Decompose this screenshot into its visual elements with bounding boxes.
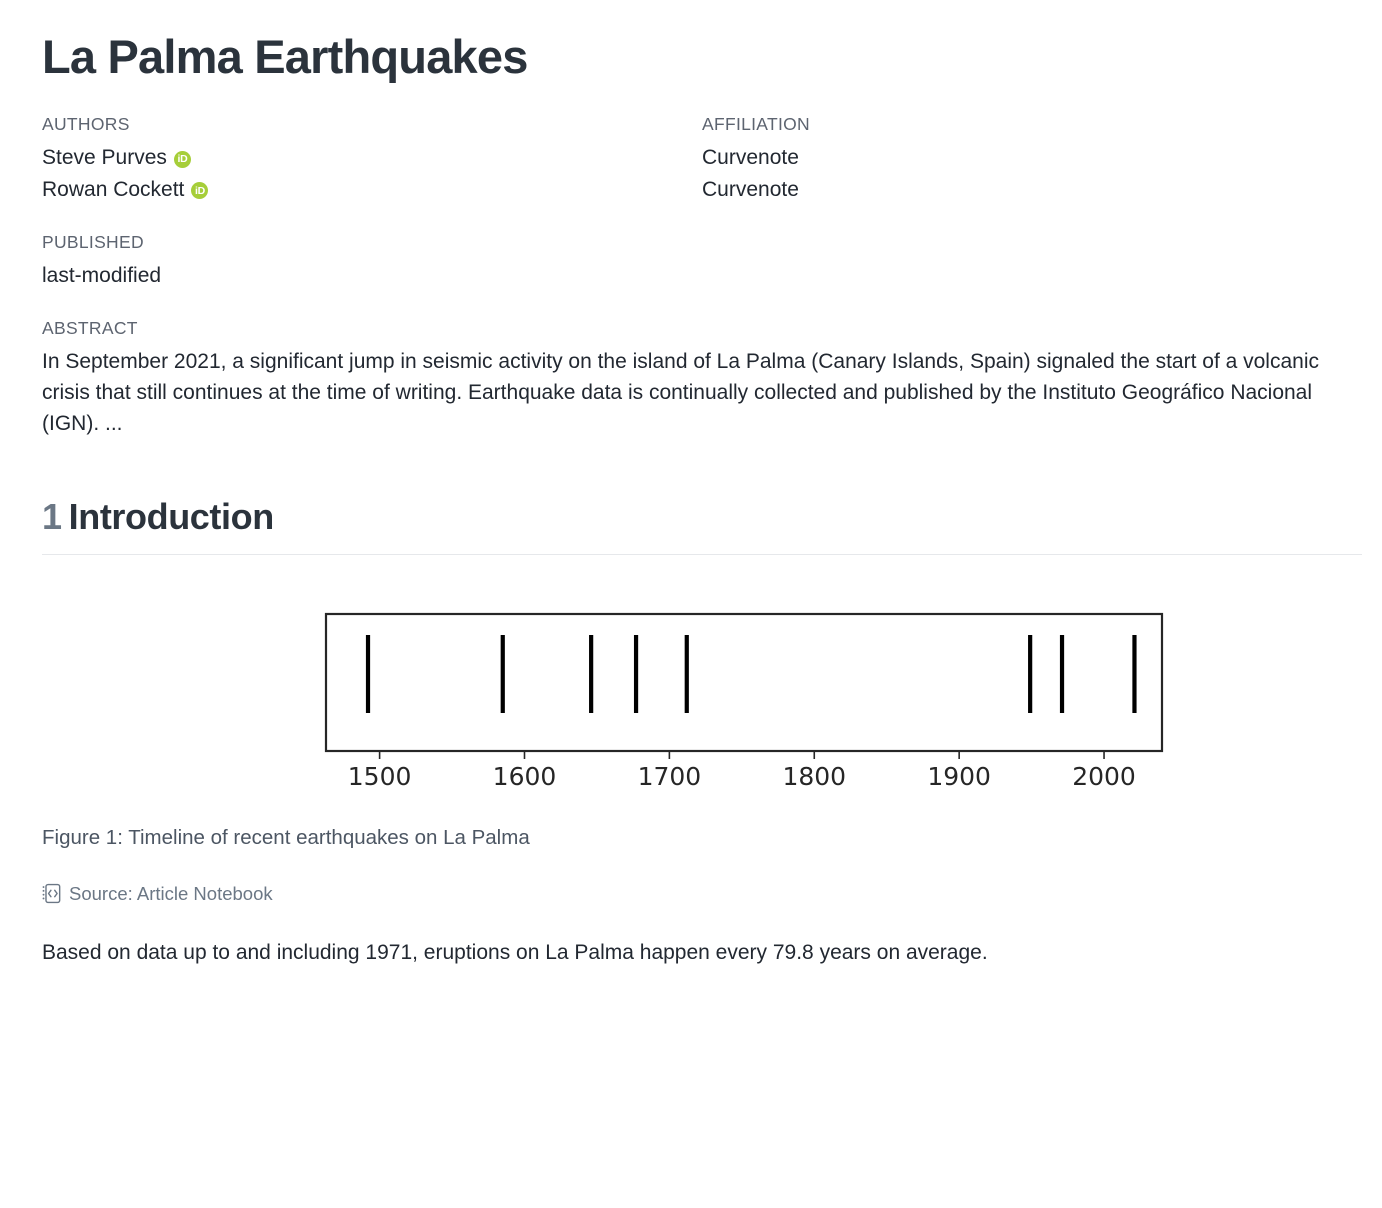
svg-text:1800: 1800 [782, 762, 846, 791]
author-name: Rowan Cockett [42, 174, 184, 206]
published-label: PUBLISHED [42, 232, 1360, 253]
section-divider [42, 554, 1362, 555]
page-title: La Palma Earthquakes [42, 0, 1360, 84]
affiliation-column: AFFILIATION Curvenote Curvenote [702, 114, 1360, 206]
orcid-icon[interactable]: iD [191, 182, 208, 199]
author-entry: Rowan Cockett iD [42, 174, 702, 206]
svg-text:1600: 1600 [493, 762, 557, 791]
figure-source[interactable]: Source: Article Notebook [42, 883, 1360, 905]
abstract-label: ABSTRACT [42, 318, 1360, 339]
orcid-icon[interactable]: iD [174, 151, 191, 168]
author-entry: Steve Purves iD [42, 142, 702, 174]
figure-timeline: 150016001700180019002000 Figure 1: Timel… [42, 597, 1360, 905]
affiliation-value: Curvenote [702, 174, 1360, 206]
authors-label: AUTHORS [42, 114, 702, 135]
svg-text:2000: 2000 [1072, 762, 1136, 791]
timeline-chart-svg: 150016001700180019002000 [42, 597, 1382, 797]
svg-text:1500: 1500 [348, 762, 412, 791]
figure-source-label: Source: Article Notebook [69, 883, 273, 905]
body-paragraph: Based on data up to and including 1971, … [42, 937, 1312, 969]
notebook-code-icon [42, 883, 61, 904]
abstract-block: ABSTRACT In September 2021, a significan… [42, 318, 1360, 439]
affiliation-value: Curvenote [702, 142, 1360, 174]
figure-caption: Figure 1: Timeline of recent earthquakes… [42, 824, 1360, 853]
svg-text:1900: 1900 [927, 762, 991, 791]
authors-column: AUTHORS Steve Purves iD Rowan Cockett iD [42, 114, 702, 206]
article-page: La Palma Earthquakes AUTHORS Steve Purve… [0, 0, 1382, 1208]
published-value: last-modified [42, 260, 1360, 292]
section-number: 1 [42, 496, 62, 537]
svg-text:1700: 1700 [638, 762, 702, 791]
timeline-plot: 150016001700180019002000 [42, 597, 1360, 802]
author-name: Steve Purves [42, 142, 167, 174]
abstract-text: In September 2021, a significant jump in… [42, 346, 1360, 439]
affiliation-label: AFFILIATION [702, 114, 1360, 135]
frontmatter: AUTHORS Steve Purves iD Rowan Cockett iD… [42, 114, 1360, 206]
plot-frame [326, 614, 1162, 751]
x-axis-tick-labels: 150016001700180019002000 [348, 762, 1136, 791]
section-title: Introduction [69, 496, 274, 537]
published-block: PUBLISHED last-modified [42, 232, 1360, 292]
section-heading-introduction: 1Introduction [42, 495, 1360, 538]
x-axis-ticks [380, 751, 1104, 759]
